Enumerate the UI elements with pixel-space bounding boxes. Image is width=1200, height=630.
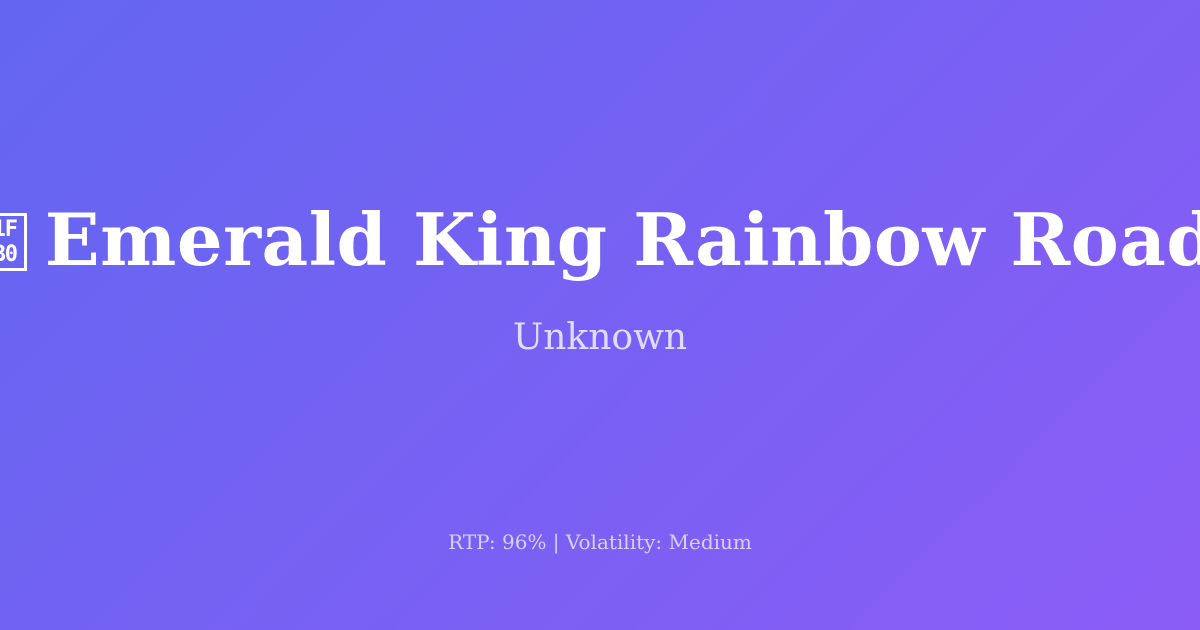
game-provider-subtitle: Unknown — [513, 316, 687, 359]
game-preview-card: 1FB0Emerald King Rainbow Road Unknown RT… — [0, 0, 1200, 630]
slot-machine-emoji: 1FB0 — [0, 198, 45, 282]
missing-glyph-hex-bottom: B0 — [0, 243, 24, 267]
game-title-text: Emerald King Rainbow Road — [45, 197, 1200, 282]
page-title: 1FB0Emerald King Rainbow Road — [0, 204, 1200, 276]
missing-glyph-box: 1FB0 — [0, 213, 27, 271]
game-stats-line: RTP: 96% | Volatility: Medium — [0, 528, 1200, 556]
missing-glyph-hex-top: 1F — [0, 218, 24, 242]
